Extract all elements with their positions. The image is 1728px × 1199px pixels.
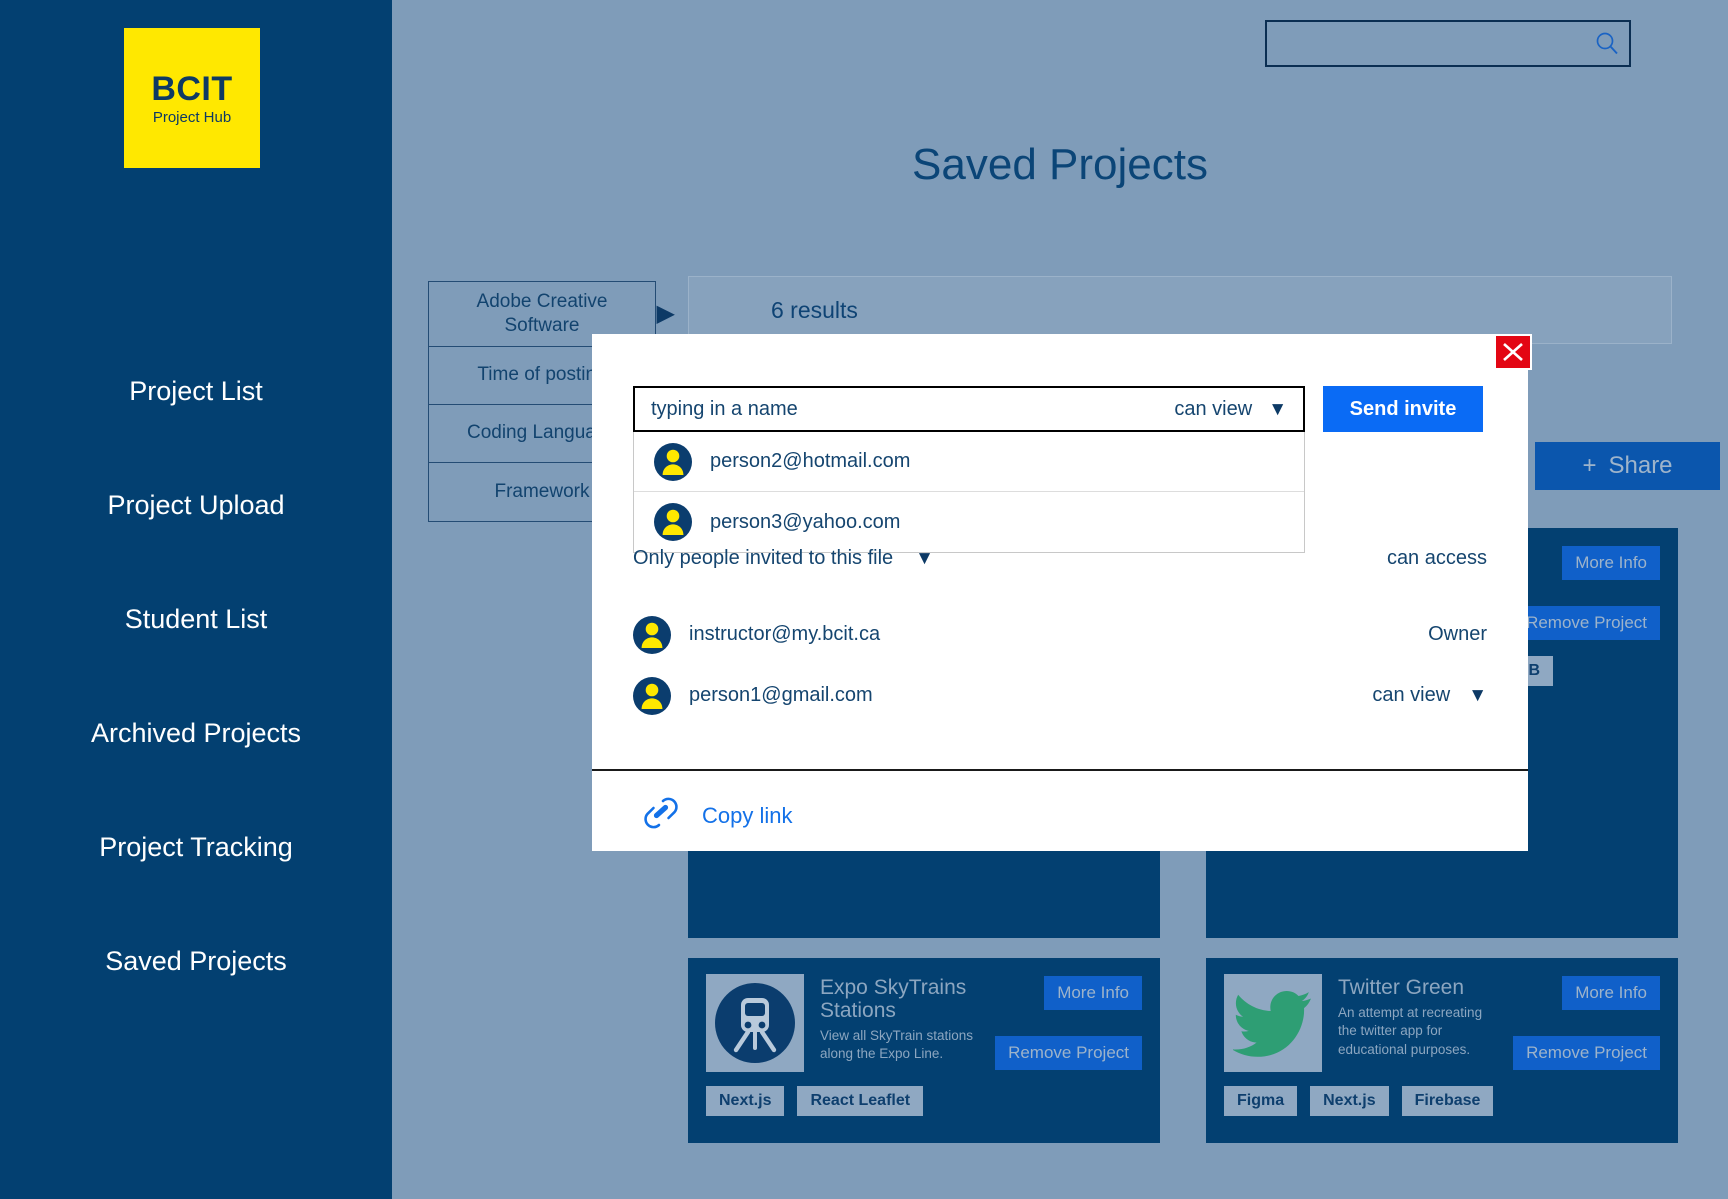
chevron-down-icon: ▼ xyxy=(915,549,934,568)
invite-row: can view ▼ Send invite xyxy=(633,386,1483,432)
list-item[interactable]: person3@yahoo.com xyxy=(634,492,1304,552)
person-avatar-icon xyxy=(633,616,671,654)
share-button[interactable]: + Share xyxy=(1535,442,1720,490)
person-avatar-icon xyxy=(633,677,671,715)
invite-name-input[interactable] xyxy=(651,398,1174,421)
suggestion-email: person2@hotmail.com xyxy=(710,450,910,473)
project-card[interactable]: Expo SkyTrains Stations View all SkyTrai… xyxy=(688,958,1160,1143)
member-role: Owner xyxy=(1428,623,1487,646)
logo-subtitle: Project Hub xyxy=(153,110,231,125)
list-item[interactable]: person2@hotmail.com xyxy=(634,432,1304,492)
bcit-logo: BCIT Project Hub xyxy=(124,28,260,168)
invite-field[interactable]: can view ▼ xyxy=(633,386,1305,432)
sidebar-item-project-list[interactable]: Project List xyxy=(0,360,392,423)
logo-title: BCIT xyxy=(151,72,232,106)
access-scope-row: Only people invited to this file ▼ can a… xyxy=(633,547,1487,570)
more-info-button[interactable]: More Info xyxy=(1044,976,1142,1010)
filter-label: Framework xyxy=(494,480,589,504)
member-email: person1@gmail.com xyxy=(689,684,1372,707)
tag: Figma xyxy=(1224,1086,1297,1116)
invite-permission-label: can view xyxy=(1174,398,1252,421)
share-button-label: Share xyxy=(1608,452,1672,480)
project-card[interactable]: Twitter Green An attempt at recreating t… xyxy=(1206,958,1678,1143)
search-icon[interactable] xyxy=(1585,31,1629,57)
plus-icon: + xyxy=(1582,452,1596,480)
member-email: instructor@my.bcit.ca xyxy=(689,623,1428,646)
project-title: Twitter Green xyxy=(1338,976,1492,999)
sidebar: BCIT Project Hub Project List Project Up… xyxy=(0,0,392,1199)
more-info-button[interactable]: More Info xyxy=(1562,546,1660,580)
filter-label: Adobe Creative Software xyxy=(439,290,645,338)
project-description: View all SkyTrain stations along the Exp… xyxy=(820,1027,974,1063)
tag: Next.js xyxy=(1310,1086,1388,1116)
project-tags: Next.js React Leaflet xyxy=(706,1086,1142,1116)
results-count: 6 results xyxy=(771,297,858,324)
chevron-down-icon: ▼ xyxy=(1268,400,1287,419)
invite-permission-dropdown[interactable]: can view ▼ xyxy=(1174,398,1287,421)
project-tags: Figma Next.js Firebase xyxy=(1224,1086,1660,1116)
member-role-dropdown[interactable]: can view ▼ xyxy=(1372,684,1487,707)
remove-project-button[interactable]: Remove Project xyxy=(1513,1036,1660,1070)
person-avatar-icon xyxy=(654,443,692,481)
sidebar-item-saved-projects[interactable]: Saved Projects xyxy=(0,930,392,993)
sidebar-item-student-list[interactable]: Student List xyxy=(0,588,392,651)
share-modal: can view ▼ Send invite person2@hotmail.c… xyxy=(592,334,1528,851)
sidebar-item-project-upload[interactable]: Project Upload xyxy=(0,474,392,537)
sidebar-item-project-tracking[interactable]: Project Tracking xyxy=(0,816,392,879)
triangle-right-icon[interactable]: ▶ xyxy=(657,299,675,329)
member-role-label: Owner xyxy=(1428,623,1487,646)
more-info-button[interactable]: More Info xyxy=(1562,976,1660,1010)
invite-suggestions-list: person2@hotmail.com person3@yahoo.com xyxy=(633,432,1305,553)
member-list: instructor@my.bcit.ca Owner person1@gmai… xyxy=(633,604,1487,726)
copy-link-label: Copy link xyxy=(702,803,792,829)
sidebar-nav: Project List Project Upload Student List… xyxy=(0,360,392,1044)
tag: Firebase xyxy=(1402,1086,1494,1116)
tag: Next.js xyxy=(706,1086,784,1116)
page-title: Saved Projects xyxy=(392,140,1728,190)
chain-link-icon xyxy=(642,796,680,835)
send-invite-button[interactable]: Send invite xyxy=(1323,386,1483,432)
list-item[interactable]: instructor@my.bcit.ca Owner xyxy=(633,604,1487,665)
project-description: An attempt at recreating the twitter app… xyxy=(1338,1004,1492,1059)
copy-link-button[interactable]: Copy link xyxy=(642,796,792,835)
divider xyxy=(592,769,1528,771)
tag: React Leaflet xyxy=(797,1086,923,1116)
filter-label: Time of posting xyxy=(477,363,606,387)
access-right-label: can access xyxy=(1387,547,1487,570)
member-role-label: can view xyxy=(1372,684,1450,707)
remove-project-button[interactable]: Remove Project xyxy=(995,1036,1142,1070)
sidebar-item-archived-projects[interactable]: Archived Projects xyxy=(0,702,392,765)
global-search-box[interactable] xyxy=(1265,20,1631,67)
search-input[interactable] xyxy=(1267,22,1585,65)
suggestion-email: person3@yahoo.com xyxy=(710,511,900,534)
close-icon[interactable] xyxy=(1494,334,1532,370)
person-avatar-icon xyxy=(654,503,692,541)
project-title: Expo SkyTrains Stations xyxy=(820,976,974,1022)
list-item[interactable]: person1@gmail.com can view ▼ xyxy=(633,665,1487,726)
chevron-down-icon: ▼ xyxy=(1468,686,1487,705)
twitter-bird-icon xyxy=(1224,974,1322,1072)
train-icon xyxy=(706,974,804,1072)
remove-project-button[interactable]: Remove Project xyxy=(1513,606,1660,640)
access-scope-dropdown[interactable]: Only people invited to this file ▼ xyxy=(633,547,934,570)
access-scope-label: Only people invited to this file xyxy=(633,547,893,570)
